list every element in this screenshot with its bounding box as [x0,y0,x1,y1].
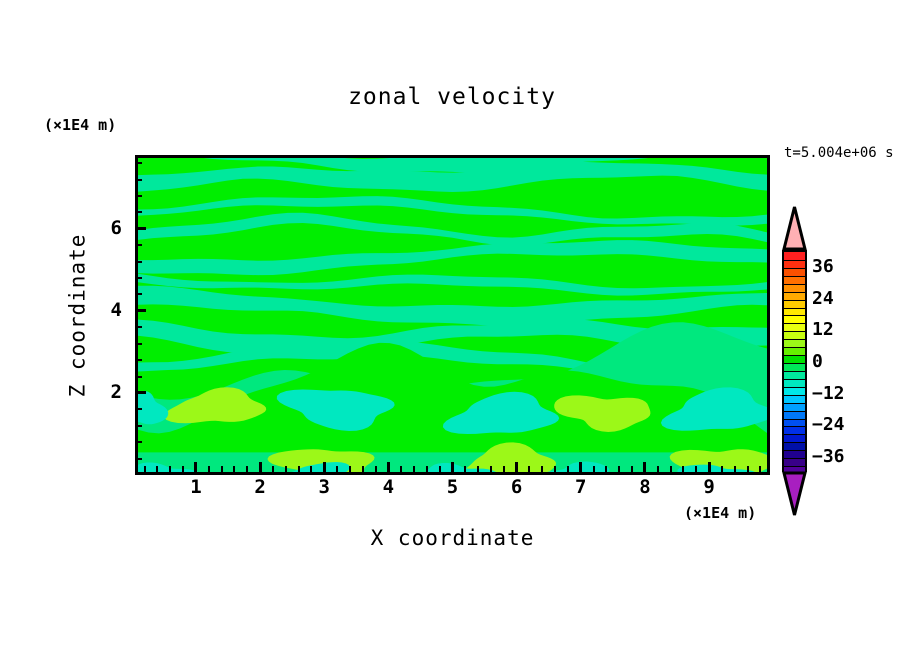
colorbar-tick-label: −12 [812,383,845,404]
colorbar-band-divider [784,339,805,340]
colorbar-band-divider [784,292,805,293]
x-tick-minor [682,466,684,473]
x-tick-major [643,462,646,473]
colorbar-tick-label: 12 [812,319,834,340]
colorbar-band-divider [784,411,805,412]
x-tick-minor [182,466,184,473]
x-tick-major [194,462,197,473]
x-tick-minor [721,466,723,473]
y-tick-label: 6 [88,219,122,238]
colorbar-band-divider [784,315,805,316]
colorbar-band-divider [784,268,805,269]
colorbar-band-divider [784,331,805,332]
x-tick-label: 7 [561,478,601,497]
x-tick-minor [336,466,338,473]
x-tick-minor [734,466,736,473]
x-tick-major [387,462,390,473]
timestamp-annotation: t=5.004e+06 s [784,146,894,160]
y-tick-minor [135,326,142,328]
chart-title: zonal velocity [0,86,904,109]
x-tick-major [708,462,711,473]
x-tick-minor [310,466,312,473]
y-tick-minor [135,441,142,443]
x-tick-minor [298,466,300,473]
figure-canvas: zonal velocity (×1E4 m) (×1E4 m) t=5.004… [0,0,904,654]
colorbar-band-divider [784,458,805,459]
colorbar-band-divider [784,419,805,420]
colorbar-band-divider [784,426,805,427]
colorbar-band-divider [784,442,805,443]
colorbar-band-divider [784,308,805,309]
colorbar [782,250,807,472]
x-tick-label: 5 [433,478,473,497]
x-tick-minor [747,466,749,473]
x-tick-minor [541,466,543,473]
y-tick-minor [135,408,142,410]
x-tick-minor [605,466,607,473]
y-tick-minor [135,376,142,378]
colorbar-tick-label: 36 [812,256,834,277]
x-axis-title: X coordinate [135,528,770,549]
x-tick-minor [246,466,248,473]
colorbar-band-divider [784,466,805,467]
colorbar-band-divider [784,323,805,324]
y-tick-minor [135,195,142,197]
x-tick-minor [631,466,633,473]
x-tick-label: 6 [497,478,537,497]
colorbar-tick-label: −24 [812,414,845,435]
x-tick-minor [221,466,223,473]
colorbar-under-arrow [782,471,807,517]
x-tick-label: 8 [625,478,665,497]
colorbar-tick-label: −36 [812,446,845,467]
colorbar-band-divider [784,260,805,261]
y-tick-minor [135,293,142,295]
x-tick-minor [670,466,672,473]
x-tick-minor [554,466,556,473]
x-tick-major [451,462,454,473]
x-tick-minor [618,466,620,473]
colorbar-over-arrow [782,205,807,251]
x-tick-minor [657,466,659,473]
y-axis-unit-label: (×1E4 m) [44,118,116,133]
x-tick-minor [464,466,466,473]
colorbar-band-divider [784,395,805,396]
colorbar-band-divider [784,276,805,277]
x-tick-minor [759,466,761,473]
x-tick-minor [272,466,274,473]
y-axis-title: Z coordinate [68,216,89,416]
x-tick-minor [156,466,158,473]
colorbar-band-divider [784,434,805,435]
x-tick-minor [503,466,505,473]
x-tick-minor [528,466,530,473]
colorbar-band-divider [784,387,805,388]
x-tick-minor [439,466,441,473]
y-tick-minor [135,458,142,460]
colorbar-tick-label: 0 [812,351,823,372]
x-tick-major [515,462,518,473]
y-tick-minor [135,211,142,213]
x-tick-minor [695,466,697,473]
x-tick-minor [593,466,595,473]
y-tick-minor [135,261,142,263]
x-tick-minor [375,466,377,473]
x-tick-minor [413,466,415,473]
colorbar-band-divider [784,371,805,372]
y-tick-major [135,309,146,312]
x-tick-label: 9 [689,478,729,497]
x-tick-major [259,462,262,473]
colorbar-band-divider [784,450,805,451]
y-tick-minor [135,425,142,427]
x-tick-minor [349,466,351,473]
colorbar-band-divider [784,284,805,285]
x-tick-minor [567,466,569,473]
y-tick-major [135,391,146,394]
x-tick-label: 1 [176,478,216,497]
y-tick-label: 4 [88,301,122,320]
x-tick-minor [400,466,402,473]
y-tick-label: 2 [88,383,122,402]
x-tick-minor [169,466,171,473]
contour-field [138,158,767,472]
y-tick-minor [135,179,142,181]
x-tick-minor [208,466,210,473]
y-tick-minor [135,277,142,279]
x-tick-label: 3 [304,478,344,497]
x-axis-unit-label: (×1E4 m) [684,506,756,521]
x-tick-label: 2 [240,478,280,497]
x-tick-minor [285,466,287,473]
colorbar-band-divider [784,363,805,364]
y-tick-minor [135,359,142,361]
x-tick-label: 4 [368,478,408,497]
x-tick-minor [477,466,479,473]
colorbar-tick-label: 24 [812,288,834,309]
y-tick-minor [135,244,142,246]
colorbar-band-divider [784,379,805,380]
x-tick-minor [144,466,146,473]
colorbar-band-divider [784,347,805,348]
colorbar-band-divider [784,403,805,404]
x-tick-major [323,462,326,473]
x-tick-minor [233,466,235,473]
colorbar-band-divider [784,300,805,301]
y-tick-major [135,227,146,230]
x-tick-minor [362,466,364,473]
plot-area [135,155,770,475]
x-tick-minor [490,466,492,473]
x-tick-minor [426,466,428,473]
y-tick-minor [135,162,142,164]
x-tick-major [579,462,582,473]
y-tick-minor [135,343,142,345]
colorbar-band-divider [784,355,805,356]
